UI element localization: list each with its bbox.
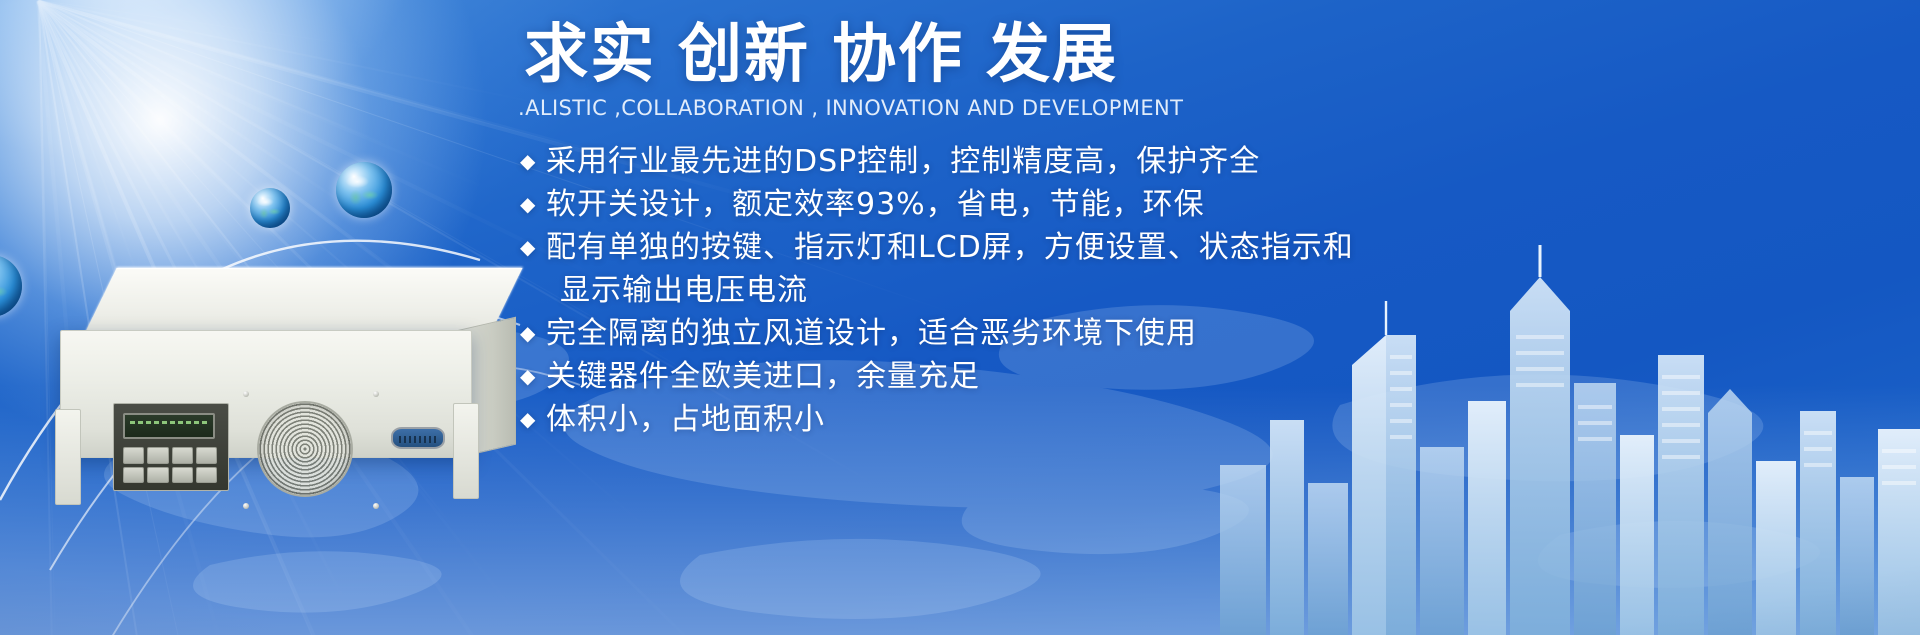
device-screw: [373, 391, 379, 397]
feature-item-label: 完全隔离的独立风道设计，适合恶劣环境下使用: [546, 312, 1500, 355]
device-rack-ear-left: [55, 409, 81, 505]
feature-item-label: 关键器件全欧美进口，余量充足: [546, 355, 1500, 398]
feature-item: ◆显示输出电压电流: [520, 269, 1500, 312]
globe-icon: [336, 162, 392, 218]
device-key: [172, 467, 193, 484]
light-ray: [37, 0, 310, 270]
diamond-bullet-icon: ◆: [520, 140, 546, 183]
device-rack-ear-right: [453, 403, 479, 499]
diamond-bullet-icon: ◆: [520, 226, 546, 269]
device-key: [196, 447, 217, 464]
feature-item: ◆关键器件全欧美进口，余量充足: [520, 355, 1500, 398]
banner-text-block: 求实创新协作发展 .ALISTIC ,COLLABORATION , INNOV…: [512, 0, 1512, 635]
device-key: [172, 447, 193, 464]
feature-item: ◆采用行业最先进的DSP控制，控制精度高，保护齐全: [520, 140, 1500, 183]
light-ray: [40, 0, 416, 54]
light-ray: [39, 0, 391, 147]
device-keypad: [123, 447, 217, 483]
feature-item: ◆体积小，占地面积小: [520, 398, 1500, 441]
feature-item-label: 体积小，占地面积小: [546, 398, 1500, 441]
device-key: [147, 447, 168, 464]
device-key: [196, 467, 217, 484]
feature-item-label: 采用行业最先进的DSP控制，控制精度高，保护齐全: [546, 140, 1500, 183]
feature-item-label: 配有单独的按键、指示灯和LCD屏，方便设置、状态指示和: [546, 226, 1500, 269]
device-front-panel: [60, 330, 472, 458]
device-lcd-screen: [123, 413, 215, 439]
device-fan-grille: [257, 401, 353, 497]
device-screw: [243, 391, 249, 397]
device-screw: [373, 503, 379, 509]
headline-word-2: 协作: [832, 18, 964, 92]
diamond-bullet-icon: ◆: [520, 183, 546, 226]
device-screw: [243, 503, 249, 509]
device-key: [147, 467, 168, 484]
headline-word-1: 创新: [678, 18, 810, 92]
diamond-bullet-icon: ◆: [520, 398, 546, 441]
device-vga-port: [391, 427, 445, 449]
light-ray: [40, 0, 560, 108]
device-key: [123, 447, 144, 464]
promo-banner: 求实创新协作发展 .ALISTIC ,COLLABORATION , INNOV…: [0, 0, 1920, 635]
feature-item-label: 显示输出电压电流: [546, 269, 1500, 312]
globe-icon: [250, 188, 290, 228]
feature-item: ◆完全隔离的独立风道设计，适合恶劣环境下使用: [520, 312, 1500, 355]
feature-list: ◆采用行业最先进的DSP控制，控制精度高，保护齐全◆软开关设计，额定效率93%，…: [520, 140, 1500, 441]
feature-item: ◆配有单独的按键、指示灯和LCD屏，方便设置、状态指示和: [520, 226, 1500, 269]
feature-item-label: 软开关设计，额定效率93%，省电，节能，环保: [546, 183, 1500, 226]
headline-word-0: 求实: [524, 18, 656, 92]
globe-icon: [0, 255, 22, 317]
headline-word-3: 发展: [986, 18, 1118, 92]
diamond-bullet-icon: ◆: [520, 355, 546, 398]
page-title: 求实创新协作发展: [524, 22, 1118, 89]
light-ray: [39, 0, 529, 207]
page-subtitle: .ALISTIC ,COLLABORATION , INNOVATION AND…: [518, 96, 1183, 120]
device-key: [123, 467, 144, 484]
feature-item: ◆软开关设计，额定效率93%，省电，节能，环保: [520, 183, 1500, 226]
light-ray: [38, 0, 356, 213]
rackmount-power-supply-image: [52, 268, 522, 518]
diamond-bullet-icon: ◆: [520, 312, 546, 355]
